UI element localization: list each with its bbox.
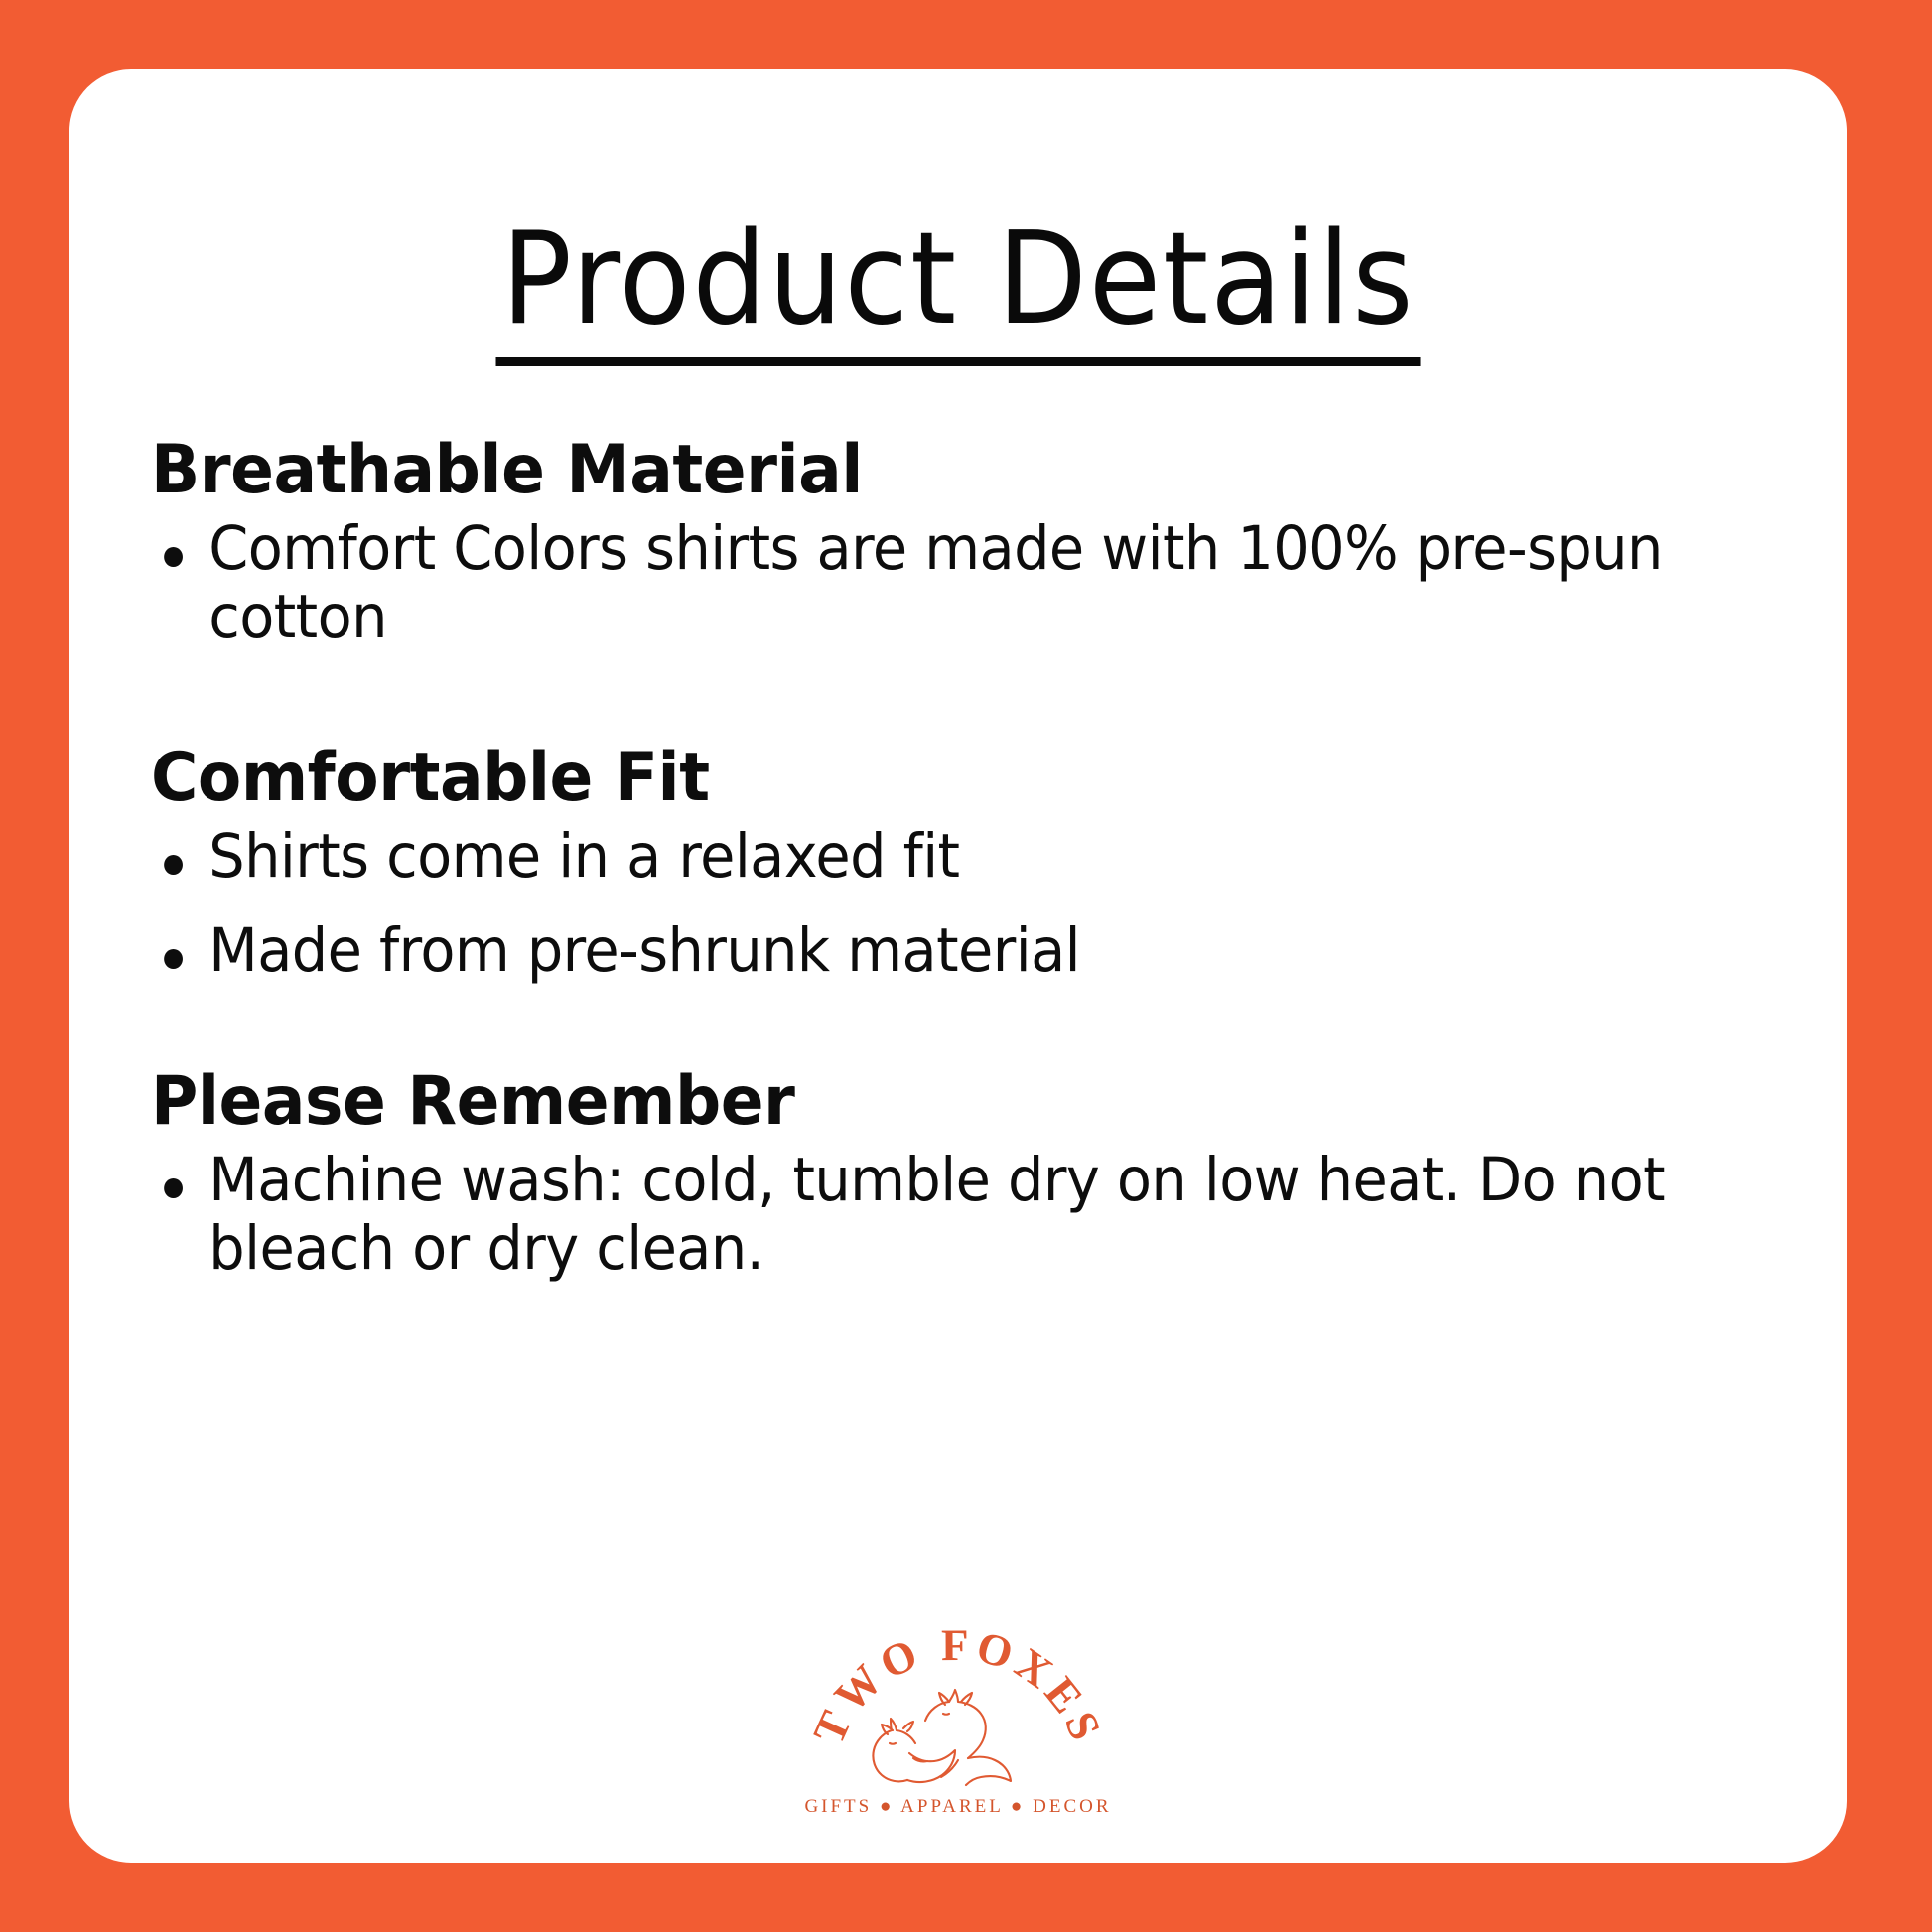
list-item: Comfort Colors shirts are made with 100%… <box>151 515 1682 651</box>
bullet-dot-icon <box>164 1178 183 1198</box>
bullet-dot-icon <box>164 855 183 875</box>
section-please-remember: Please Remember Machine wash: cold, tumb… <box>151 1066 1779 1283</box>
bullet-list: Shirts come in a relaxed fit Made from p… <box>151 823 1779 985</box>
section-comfortable-fit: Comfortable Fit Shirts come in a relaxed… <box>151 743 1779 985</box>
two-foxes-logo-icon: TWO FOXES <box>794 1615 1122 1800</box>
bullet-list: Comfort Colors shirts are made with 100%… <box>151 515 1779 651</box>
list-item: Shirts come in a relaxed fit <box>151 823 1682 891</box>
list-item-text: Machine wash: cold, tumble dry on low he… <box>208 1145 1665 1283</box>
section-heading: Breathable Material <box>151 435 1698 505</box>
fox-pair-icon <box>873 1690 1011 1785</box>
section-heading: Please Remember <box>151 1066 1698 1137</box>
list-item: Machine wash: cold, tumble dry on low he… <box>151 1147 1682 1283</box>
bullet-dot-icon <box>164 547 183 567</box>
bullet-list: Machine wash: cold, tumble dry on low he… <box>151 1147 1779 1283</box>
list-item: Made from pre-shrunk material <box>151 917 1682 985</box>
logo-tagline: GIFTS ● APPAREL ● DECOR <box>794 1796 1122 1818</box>
brand-logo: TWO FOXES <box>794 1615 1122 1829</box>
list-item-text: Comfort Colors shirts are made with 100%… <box>208 513 1663 651</box>
list-item-text: Made from pre-shrunk material <box>208 915 1080 986</box>
section-spacer <box>151 677 1779 743</box>
content-card: Product Details Breathable Material Comf… <box>69 69 1847 1863</box>
page-title: Product Details <box>495 216 1420 366</box>
page-title-wrapper: Product Details <box>69 131 1847 452</box>
bullet-dot-icon <box>164 949 183 969</box>
section-heading: Comfortable Fit <box>151 743 1698 813</box>
section-breathable-material: Breathable Material Comfort Colors shirt… <box>151 435 1779 651</box>
list-item-text: Shirts come in a relaxed fit <box>208 821 959 892</box>
details-content: Breathable Material Comfort Colors shirt… <box>151 435 1779 1309</box>
section-spacer <box>151 1011 1779 1066</box>
poster-background: Product Details Breathable Material Comf… <box>0 0 1932 1932</box>
logo-arc-text: TWO FOXES <box>803 1620 1112 1751</box>
svg-text:TWO FOXES: TWO FOXES <box>803 1620 1112 1751</box>
